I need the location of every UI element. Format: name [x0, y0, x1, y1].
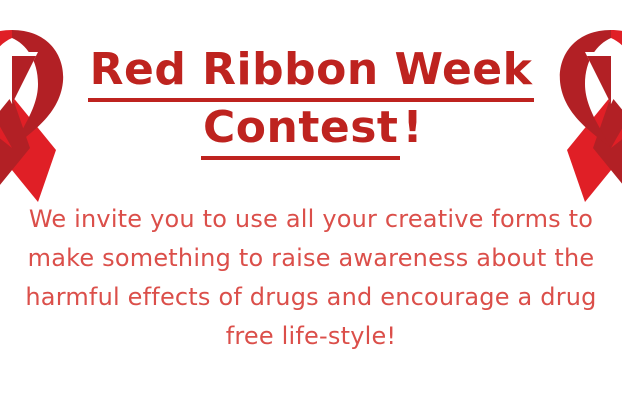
- body-line-4: free life-style!: [11, 317, 611, 356]
- poster-headline: Red Ribbon Week Contest!: [0, 48, 622, 160]
- headline-line-2-text: Contest: [201, 106, 400, 160]
- poster-body-copy: We invite you to use all your creative f…: [11, 200, 611, 356]
- body-line-1: We invite you to use all your creative f…: [11, 200, 611, 239]
- body-line-2: make something to raise awareness about …: [11, 239, 611, 278]
- body-line-3: harmful effects of drugs and encourage a…: [11, 278, 611, 317]
- red-ribbon-week-poster: Red Ribbon Week Contest! We invite you t…: [0, 0, 622, 400]
- headline-line-1: Red Ribbon Week: [0, 48, 622, 102]
- headline-exclamation: !: [402, 106, 423, 150]
- headline-line-2: Contest!: [0, 106, 622, 160]
- headline-line-1-text: Red Ribbon Week: [88, 48, 535, 102]
